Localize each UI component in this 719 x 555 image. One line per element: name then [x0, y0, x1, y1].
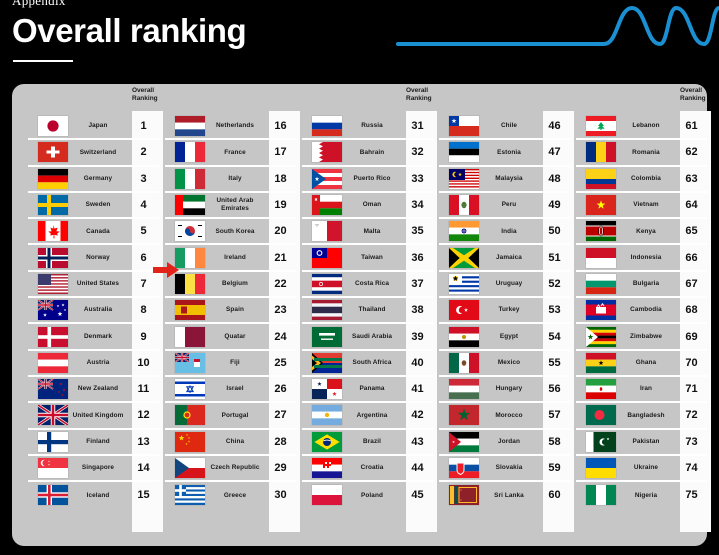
rank-number: 36 — [402, 252, 433, 264]
country-name: Uruguay — [479, 280, 539, 288]
flag-icon-russia — [312, 116, 342, 136]
flag-icon-finland — [38, 432, 68, 452]
country-name: Czech Republic — [205, 464, 265, 472]
table-row[interactable]: Indonesia66 — [576, 245, 707, 271]
rank-number: 44 — [402, 462, 433, 474]
ranking-rows: Chile46Estonia47Malaysia48Peru49India50J… — [439, 114, 570, 508]
flag-icon-egypt — [449, 327, 479, 347]
country-name: Malaysia — [479, 175, 539, 183]
rank-number: 50 — [539, 225, 570, 237]
rank-number: 66 — [676, 252, 707, 264]
table-row[interactable]: Turkey53 — [439, 298, 570, 324]
table-row[interactable]: Cambodia68 — [576, 298, 707, 324]
flag-icon-spain — [175, 300, 205, 320]
table-row[interactable]: Quatar24 — [165, 324, 296, 350]
table-row[interactable]: United States7 — [28, 272, 159, 298]
country-name: Jordan — [479, 438, 539, 446]
rank-number: 21 — [265, 252, 296, 264]
table-row[interactable]: South Korea20 — [165, 219, 296, 245]
country-name: Estonia — [479, 149, 539, 157]
ranking-column-5: OverallRankingLebanon61Romania62Colombia… — [576, 84, 707, 546]
country-name: South Korea — [205, 228, 265, 236]
flag-icon-jamaica — [449, 248, 479, 268]
country-name: Ireland — [205, 254, 265, 262]
flag-icon-bangladesh — [586, 405, 616, 425]
table-row[interactable]: Peru49 — [439, 193, 570, 219]
country-name: Belgium — [205, 280, 265, 288]
title-underline-rule — [13, 60, 73, 62]
rank-number: 54 — [539, 331, 570, 343]
table-row[interactable]: Spain23 — [165, 298, 296, 324]
flag-icon-india — [449, 221, 479, 241]
country-name: Italy — [205, 175, 265, 183]
country-name: Zimbabwe — [616, 333, 676, 341]
rank-number: 38 — [402, 304, 433, 316]
table-row[interactable]: Mexico55 — [439, 351, 570, 377]
rank-number: 64 — [676, 199, 707, 211]
ranking-column-4: Chile46Estonia47Malaysia48Peru49India50J… — [439, 84, 570, 546]
country-name: Pakistan — [616, 438, 676, 446]
table-row[interactable]: France17 — [165, 140, 296, 166]
appendix-overall-ranking-page: Appendix Overall ranking OverallRankingJ… — [0, 0, 719, 555]
rank-number: 75 — [676, 489, 707, 501]
rank-number: 67 — [676, 278, 707, 290]
rank-number: 32 — [402, 146, 433, 158]
country-name: Colombia — [616, 175, 676, 183]
rank-number: 20 — [265, 225, 296, 237]
table-row[interactable]: Brazil43 — [302, 430, 433, 456]
flag-icon-czech-republic — [175, 458, 205, 478]
country-name: Indonesia — [616, 254, 676, 262]
flag-icon-nigeria — [586, 485, 616, 505]
flag-icon-france — [175, 142, 205, 162]
country-name: Nigeria — [616, 492, 676, 500]
flag-icon-iceland — [38, 485, 68, 505]
flag-icon-bahrain — [312, 142, 342, 162]
country-name: India — [479, 228, 539, 236]
flag-icon-australia — [38, 300, 68, 320]
table-row[interactable]: Austria10 — [28, 351, 159, 377]
ranking-rows: Lebanon61Romania62Colombia63Vietnam64Ken… — [576, 114, 707, 508]
flag-icon-chile — [449, 116, 479, 136]
table-row[interactable]: Slovakia59 — [439, 456, 570, 482]
table-row[interactable]: Iran71 — [576, 377, 707, 403]
rank-number: 3 — [128, 173, 159, 185]
rank-number: 13 — [128, 436, 159, 448]
country-name: Brazil — [342, 438, 402, 446]
table-row[interactable]: Argentina42 — [302, 403, 433, 429]
rank-number: 59 — [539, 462, 570, 474]
table-row[interactable]: Morocco57 — [439, 403, 570, 429]
rank-number: 51 — [539, 252, 570, 264]
rank-number: 41 — [402, 383, 433, 395]
eyebrow-appendix: Appendix — [12, 0, 66, 9]
country-name: Sweden — [68, 201, 128, 209]
rank-number: 16 — [265, 120, 296, 132]
rank-number: 49 — [539, 199, 570, 211]
country-name: Jamaica — [479, 254, 539, 262]
flag-icon-ghana — [586, 353, 616, 373]
flag-icon-malta — [312, 221, 342, 241]
flag-icon-portugal — [175, 405, 205, 425]
rank-number: 27 — [265, 409, 296, 421]
country-name: Chile — [479, 122, 539, 130]
table-row[interactable]: Switzerland2 — [28, 140, 159, 166]
flag-icon-argentina — [312, 405, 342, 425]
flag-icon-zimbabwe — [586, 327, 616, 347]
country-name: Iceland — [68, 492, 128, 500]
rank-number: 34 — [402, 199, 433, 211]
country-name: Oman — [342, 201, 402, 209]
rank-number: 62 — [676, 146, 707, 158]
flag-icon-oman — [312, 195, 342, 215]
flag-icon-poland — [312, 485, 342, 505]
table-row[interactable]: Estonia47 — [439, 140, 570, 166]
rank-number: 70 — [676, 357, 707, 369]
rank-number: 24 — [265, 331, 296, 343]
flag-icon-panama — [312, 379, 342, 399]
flag-icon-cambodia — [586, 300, 616, 320]
table-row[interactable]: Bahrain32 — [302, 140, 433, 166]
country-name: Quatar — [205, 333, 265, 341]
table-row[interactable]: Russia31 — [302, 114, 433, 140]
table-row[interactable]: Israel26 — [165, 377, 296, 403]
country-name: Turkey — [479, 306, 539, 314]
country-name: Malta — [342, 228, 402, 236]
flag-icon-sri-lanka — [449, 485, 479, 505]
flag-icon-italy — [175, 169, 205, 189]
flag-icon-united-states — [38, 274, 68, 294]
table-row[interactable]: Ukraine74 — [576, 456, 707, 482]
country-name: Finland — [68, 438, 128, 446]
wave-accent-graphic — [380, 0, 719, 62]
flag-icon-netherlands — [175, 116, 205, 136]
flag-icon-morocco — [449, 405, 479, 425]
country-name: Taiwan — [342, 254, 402, 262]
country-name: United States — [68, 280, 128, 288]
table-row[interactable]: Romania62 — [576, 140, 707, 166]
flag-icon-south-korea — [175, 221, 205, 241]
ranking-card: OverallRankingJapan1Switzerland2Germany3… — [12, 84, 707, 546]
country-name: Cambodia — [616, 306, 676, 314]
country-name: Saudi Arabia — [342, 333, 402, 341]
flag-icon-jordan — [449, 432, 479, 452]
red-arrow-icon — [153, 261, 179, 279]
flag-icon-fiji — [175, 353, 205, 373]
flag-icon-costa-rica — [312, 274, 342, 294]
table-row[interactable]: Lebanon61 — [576, 114, 707, 140]
flag-icon-iran — [586, 379, 616, 399]
rank-number: 9 — [128, 331, 159, 343]
country-name: Norway — [68, 254, 128, 262]
ranking-column-3: OverallRankingRussia31Bahrain32Puerto Ri… — [302, 84, 433, 546]
flag-icon-slovakia — [449, 458, 479, 478]
rank-number: 11 — [128, 383, 159, 395]
flag-icon-romania — [586, 142, 616, 162]
table-row[interactable]: Uruguay52 — [439, 272, 570, 298]
table-row[interactable]: Zimbabwe69 — [576, 324, 707, 350]
table-row[interactable]: Oman34 — [302, 193, 433, 219]
country-name: Iran — [616, 385, 676, 393]
country-name: Croatia — [342, 464, 402, 472]
rank-number: 30 — [265, 489, 296, 501]
rank-number: 58 — [539, 436, 570, 448]
country-name: France — [205, 149, 265, 157]
table-row[interactable]: Sri Lanka60 — [439, 482, 570, 508]
country-name: Morocco — [479, 412, 539, 420]
column-header-overall-ranking: OverallRanking — [680, 87, 719, 102]
rank-number: 15 — [128, 489, 159, 501]
rank-number: 72 — [676, 409, 707, 421]
table-row[interactable]: Finland13 — [28, 430, 159, 456]
table-row[interactable]: Hungary56 — [439, 377, 570, 403]
flag-icon-germany — [38, 169, 68, 189]
country-name: Ukraine — [616, 464, 676, 472]
table-row[interactable]: Denmark9 — [28, 324, 159, 350]
rank-number: 63 — [676, 173, 707, 185]
table-row[interactable]: Fiji25 — [165, 351, 296, 377]
table-row[interactable]: Egypt54 — [439, 324, 570, 350]
table-row[interactable]: Norway6 — [28, 245, 159, 271]
country-name: United Arab Emirates — [205, 197, 265, 212]
table-row[interactable]: Chile46 — [439, 114, 570, 140]
table-row[interactable]: Poland45 — [302, 482, 433, 508]
flag-icon-peru — [449, 195, 479, 215]
rank-number: 22 — [265, 278, 296, 290]
table-row[interactable]: Malaysia48 — [439, 167, 570, 193]
table-row[interactable]: Colombia63 — [576, 167, 707, 193]
rank-number: 61 — [676, 120, 707, 132]
country-name: Netherlands — [205, 122, 265, 130]
ranking-column-1: OverallRankingJapan1Switzerland2Germany3… — [28, 84, 159, 546]
flag-icon-mexico — [449, 353, 479, 373]
table-row[interactable]: Thailand38 — [302, 298, 433, 324]
flag-icon-vietnam — [586, 195, 616, 215]
rank-number: 39 — [402, 331, 433, 343]
country-name: Thailand — [342, 306, 402, 314]
rank-number: 1 — [128, 120, 159, 132]
table-row[interactable]: Netherlands16 — [165, 114, 296, 140]
flag-icon-saudi-arabia — [312, 327, 342, 347]
country-name: Lebanon — [616, 122, 676, 130]
country-name: United Kingdom — [68, 412, 128, 420]
country-name: Switzerland — [68, 149, 128, 157]
table-row[interactable]: China28 — [165, 430, 296, 456]
rank-number: 68 — [676, 304, 707, 316]
flag-icon-sweden — [38, 195, 68, 215]
rank-number: 31 — [402, 120, 433, 132]
table-row[interactable]: Costa Rica37 — [302, 272, 433, 298]
flag-icon-estonia — [449, 142, 479, 162]
rank-number: 10 — [128, 357, 159, 369]
ranking-rows: Netherlands16France17Italy18United Arab … — [165, 114, 296, 508]
table-row[interactable]: Czech Republic29 — [165, 456, 296, 482]
rank-number: 35 — [402, 225, 433, 237]
table-row[interactable]: Italy18 — [165, 167, 296, 193]
table-row[interactable]: Australia8 — [28, 298, 159, 324]
flag-icon-belgium — [175, 274, 205, 294]
country-name: Poland — [342, 492, 402, 500]
flag-icon-lebanon — [586, 116, 616, 136]
country-name: Austria — [68, 359, 128, 367]
country-name: Spain — [205, 306, 265, 314]
rank-number: 43 — [402, 436, 433, 448]
country-name: Vietnam — [616, 201, 676, 209]
flag-icon-norway — [38, 248, 68, 268]
page-title: Overall ranking — [12, 10, 246, 52]
rank-number: 73 — [676, 436, 707, 448]
country-name: Denmark — [68, 333, 128, 341]
rank-number: 28 — [265, 436, 296, 448]
table-row[interactable]: Jordan58 — [439, 430, 570, 456]
flag-icon-singapore — [38, 458, 68, 478]
rank-number: 57 — [539, 409, 570, 421]
table-row[interactable]: Portugal27 — [165, 403, 296, 429]
flag-icon-ukraine — [586, 458, 616, 478]
table-row[interactable]: Japan1 — [28, 114, 159, 140]
table-row[interactable]: Bulgaria67 — [576, 272, 707, 298]
flag-icon-brazil — [312, 432, 342, 452]
table-row[interactable]: Panama41 — [302, 377, 433, 403]
table-row[interactable]: United Kingdom12 — [28, 403, 159, 429]
flag-icon-denmark — [38, 327, 68, 347]
table-row[interactable]: Malta35 — [302, 219, 433, 245]
rank-number: 71 — [676, 383, 707, 395]
rank-number: 18 — [265, 173, 296, 185]
rank-number: 5 — [128, 225, 159, 237]
rank-number: 45 — [402, 489, 433, 501]
country-name: Slovakia — [479, 464, 539, 472]
country-name: Romania — [616, 149, 676, 157]
flag-icon-thailand — [312, 300, 342, 320]
country-name: Hungary — [479, 385, 539, 393]
rank-number: 65 — [676, 225, 707, 237]
country-name: China — [205, 438, 265, 446]
country-name: Bahrain — [342, 149, 402, 157]
flag-icon-canada — [38, 221, 68, 241]
flag-icon-new-zealand — [38, 379, 68, 399]
country-name: Germany — [68, 175, 128, 183]
flag-icon-israel — [175, 379, 205, 399]
rank-number: 25 — [265, 357, 296, 369]
table-row[interactable]: Ireland21 — [165, 245, 296, 271]
flag-icon-colombia — [586, 169, 616, 189]
rank-number: 4 — [128, 199, 159, 211]
ranking-columns: OverallRankingJapan1Switzerland2Germany3… — [12, 84, 707, 546]
rank-number: 52 — [539, 278, 570, 290]
flag-icon-taiwan — [312, 248, 342, 268]
rank-number: 55 — [539, 357, 570, 369]
table-row[interactable]: Iceland15 — [28, 482, 159, 508]
flag-icon-china — [175, 432, 205, 452]
table-row[interactable]: Bangladesh72 — [576, 403, 707, 429]
table-row[interactable]: Puerto Rico33 — [302, 167, 433, 193]
rank-number: 53 — [539, 304, 570, 316]
rank-number: 14 — [128, 462, 159, 474]
rank-number: 48 — [539, 173, 570, 185]
rank-number: 2 — [128, 146, 159, 158]
country-name: New Zealand — [68, 385, 128, 393]
country-name: Puerto Rico — [342, 175, 402, 183]
ranking-column-2: Netherlands16France17Italy18United Arab … — [165, 84, 296, 546]
rank-number: 56 — [539, 383, 570, 395]
country-name: South Africa — [342, 359, 402, 367]
country-name: Costa Rica — [342, 280, 402, 288]
country-name: Singapore — [68, 464, 128, 472]
rank-number: 37 — [402, 278, 433, 290]
table-row[interactable]: Kenya65 — [576, 219, 707, 245]
table-row[interactable]: South Africa40 — [302, 351, 433, 377]
table-row[interactable]: Greece30 — [165, 482, 296, 508]
country-name: Portugal — [205, 412, 265, 420]
country-name: Panama — [342, 385, 402, 393]
country-name: Australia — [68, 306, 128, 314]
country-name: Sri Lanka — [479, 492, 539, 500]
rank-number: 26 — [265, 383, 296, 395]
country-name: Argentina — [342, 412, 402, 420]
flag-icon-bulgaria — [586, 274, 616, 294]
rank-number: 23 — [265, 304, 296, 316]
ranking-rows: Japan1Switzerland2Germany3Sweden4Canada5… — [28, 114, 159, 508]
flag-icon-hungary — [449, 379, 479, 399]
country-name: Israel — [205, 385, 265, 393]
rank-number: 69 — [676, 331, 707, 343]
table-row[interactable]: Pakistan73 — [576, 430, 707, 456]
flag-icon-turkey — [449, 300, 479, 320]
flag-icon-puerto-rico — [312, 169, 342, 189]
country-name: Greece — [205, 492, 265, 500]
country-name: Peru — [479, 201, 539, 209]
table-row[interactable]: New Zealand11 — [28, 377, 159, 403]
table-row[interactable]: Ghana70 — [576, 351, 707, 377]
flag-icon-united-arab-emirates — [175, 195, 205, 215]
table-row[interactable]: Saudi Arabia39 — [302, 324, 433, 350]
table-row[interactable]: Singapore14 — [28, 456, 159, 482]
table-row[interactable]: Vietnam64 — [576, 193, 707, 219]
table-row[interactable]: Canada5 — [28, 219, 159, 245]
flag-icon-greece — [175, 485, 205, 505]
table-row[interactable]: Nigeria75 — [576, 482, 707, 508]
table-row[interactable]: Croatia44 — [302, 456, 433, 482]
rank-number: 33 — [402, 173, 433, 185]
rank-number: 8 — [128, 304, 159, 316]
table-row[interactable]: India50 — [439, 219, 570, 245]
flag-icon-japan — [38, 116, 68, 136]
rank-number: 7 — [128, 278, 159, 290]
table-row[interactable]: Jamaica51 — [439, 245, 570, 271]
flag-icon-austria — [38, 353, 68, 373]
table-row[interactable]: Taiwan36 — [302, 245, 433, 271]
country-name: Mexico — [479, 359, 539, 367]
table-row[interactable]: Sweden4 — [28, 193, 159, 219]
flag-icon-croatia — [312, 458, 342, 478]
country-name: Bulgaria — [616, 280, 676, 288]
rank-number: 42 — [402, 409, 433, 421]
rank-number: 40 — [402, 357, 433, 369]
rank-number: 19 — [265, 199, 296, 211]
table-row[interactable]: Germany3 — [28, 167, 159, 193]
country-name: Kenya — [616, 228, 676, 236]
table-row[interactable]: United Arab Emirates19 — [165, 193, 296, 219]
country-name: Bangladesh — [616, 412, 676, 420]
country-name: Canada — [68, 228, 128, 236]
table-row[interactable]: Belgium22 — [165, 272, 296, 298]
flag-icon-uruguay — [449, 274, 479, 294]
rank-number: 29 — [265, 462, 296, 474]
flag-icon-pakistan — [586, 432, 616, 452]
rank-number: 47 — [539, 146, 570, 158]
country-name: Ghana — [616, 359, 676, 367]
